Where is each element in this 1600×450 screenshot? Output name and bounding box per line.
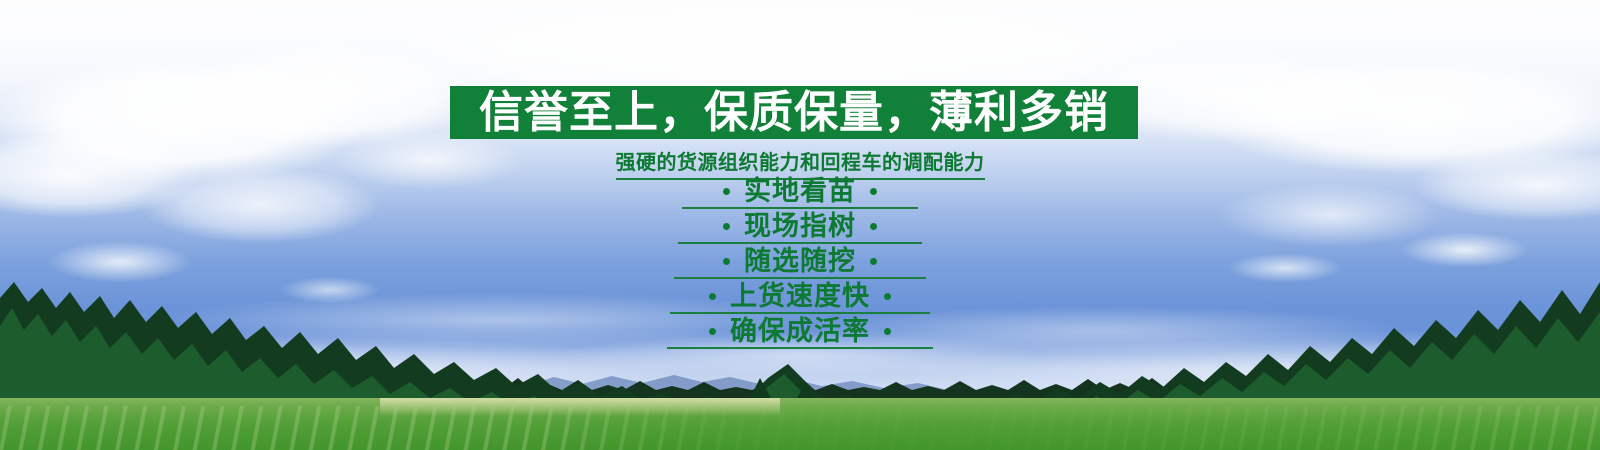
feature-row: 确保成活率 — [0, 316, 1600, 351]
feature-item: 随选随挖 — [674, 248, 926, 279]
bullet-dot-icon — [884, 328, 891, 335]
feature-label: 实地看苗 — [744, 178, 856, 205]
headline-text: 信誉至上，保质保量，薄利多销 — [479, 91, 1109, 135]
feature-item: 上货速度快 — [670, 283, 930, 314]
bullet-dot-icon — [870, 188, 877, 195]
feature-label: 随选随挖 — [744, 248, 856, 275]
feature-item: 确保成活率 — [667, 318, 933, 349]
bullet-dot-icon — [884, 293, 891, 300]
feature-label: 上货速度快 — [730, 283, 870, 310]
bullet-dot-icon — [723, 258, 730, 265]
bullet-dot-icon — [709, 293, 716, 300]
feature-row: 上货速度快 — [0, 281, 1600, 316]
headline-banner: 信誉至上，保质保量，薄利多销 — [450, 86, 1138, 139]
feature-label: 确保成活率 — [730, 318, 870, 345]
feature-row: 实地看苗 — [0, 176, 1600, 211]
feature-list: 实地看苗 现场指树 随选随挖 — [0, 176, 1600, 351]
feature-item: 实地看苗 — [682, 178, 918, 209]
bullet-dot-icon — [723, 188, 730, 195]
bullet-dot-icon — [870, 258, 877, 265]
feature-row: 随选随挖 — [0, 246, 1600, 281]
feature-label: 现场指树 — [744, 213, 856, 240]
promo-banner: 信誉至上，保质保量，薄利多销 强硬的货源组织能力和回程车的调配能力 实地看苗 现… — [0, 0, 1600, 450]
bullet-dot-icon — [870, 223, 877, 230]
bullet-dot-icon — [723, 223, 730, 230]
feature-row: 现场指树 — [0, 211, 1600, 246]
bullet-dot-icon — [709, 328, 716, 335]
subtitle-text: 强硬的货源组织能力和回程车的调配能力 — [616, 146, 985, 180]
banner-content: 信誉至上，保质保量，薄利多销 强硬的货源组织能力和回程车的调配能力 实地看苗 现… — [0, 0, 1600, 450]
subtitle-row: 强硬的货源组织能力和回程车的调配能力 — [0, 146, 1600, 180]
feature-item: 现场指树 — [678, 213, 922, 244]
